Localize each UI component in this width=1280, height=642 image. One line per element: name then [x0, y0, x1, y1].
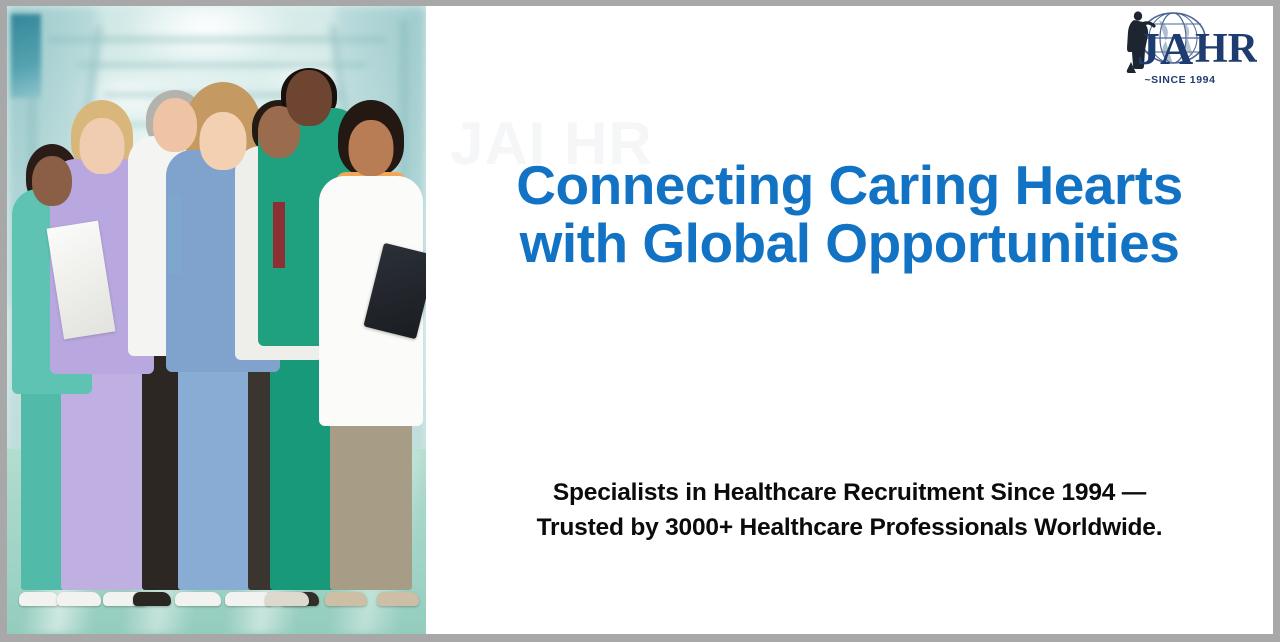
logo-mark: JA HR	[1107, 8, 1257, 78]
necktie	[169, 196, 182, 274]
subtitle-block: Specialists in Healthcare Recruitment Si…	[426, 476, 1273, 546]
headline-line-2: with Global Opportunities	[438, 214, 1261, 272]
jai-hr-logo[interactable]: JA HR ~SINCE 1994	[1107, 8, 1257, 104]
svg-text:JA: JA	[1137, 23, 1193, 74]
subtitle-line-1: Specialists in Healthcare Recruitment Si…	[436, 476, 1263, 511]
page-title: Connecting Caring Hearts with Global Opp…	[438, 156, 1261, 273]
healthcare-professionals-group	[7, 6, 426, 634]
necktie	[273, 202, 285, 268]
banner-inner: JA HR ~SINCE 1994 JAI HR Connecting Cari…	[7, 6, 1273, 634]
hero-text-block: JAI HR Connecting Caring Hearts with Glo…	[426, 156, 1273, 273]
content-panel: JA HR ~SINCE 1994 JAI HR Connecting Cari…	[426, 6, 1273, 634]
healthcare-team-photo	[7, 6, 426, 634]
logo-graphic-icon: JA HR	[1107, 8, 1257, 78]
headline-line-1: Connecting Caring Hearts	[438, 156, 1261, 214]
svg-text:HR: HR	[1195, 26, 1257, 72]
subtitle-line-2: Trusted by 3000+ Healthcare Professional…	[436, 511, 1263, 546]
hero-banner: JA HR ~SINCE 1994 JAI HR Connecting Cari…	[0, 0, 1280, 642]
